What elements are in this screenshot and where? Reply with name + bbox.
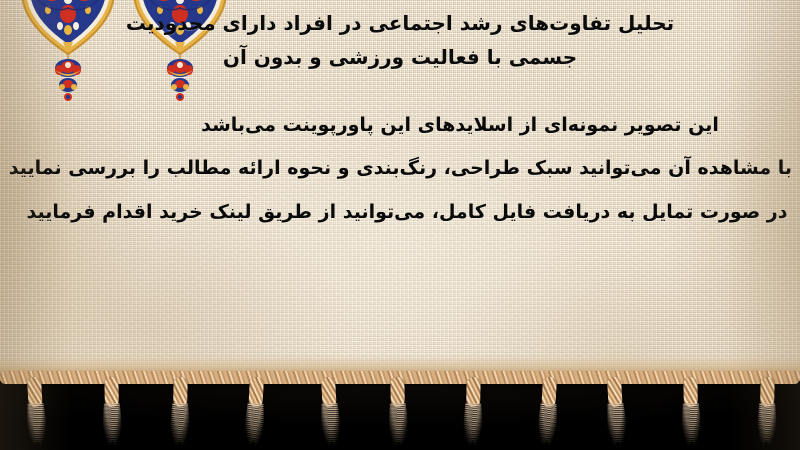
tassel-skirt	[680, 403, 703, 449]
tassel-skirt	[101, 403, 124, 449]
tassel-knot	[760, 377, 775, 407]
tassel-skirt	[535, 402, 560, 449]
fringe-tassel	[241, 376, 267, 449]
tassel-skirt	[168, 403, 191, 449]
tassel-knot	[683, 377, 698, 407]
carpet-fringe	[0, 355, 800, 450]
fringe-tassel	[386, 377, 409, 449]
fringe-tassel	[603, 376, 629, 449]
tassel-skirt	[25, 402, 50, 449]
fringe-tassel	[168, 377, 191, 449]
tassel-skirt	[755, 403, 778, 449]
tassel-skirt	[241, 402, 266, 449]
fringe-tassel	[461, 377, 484, 449]
tassel-skirt	[387, 403, 410, 449]
title-line-1: تحلیل تفاوت‌های رشد اجتماعی در افراد دار…	[10, 6, 790, 40]
title-line-2: جسمی با فعالیت ورزشی و بدون آن	[10, 40, 790, 74]
body-line-1: این تصویر نمونه‌ای از اسلایدهای این پاور…	[8, 104, 792, 147]
fringe-tassel	[755, 377, 778, 449]
fringe-tassel	[679, 377, 702, 449]
slide-canvas: تحلیل تفاوت‌های رشد اجتماعی در افراد دار…	[0, 0, 800, 450]
tassel-skirt	[605, 402, 630, 449]
fringe-tassel	[100, 377, 123, 449]
fringe-tassel	[317, 376, 343, 449]
tassel-skirt	[461, 403, 484, 449]
tassel-knot	[104, 377, 119, 407]
slide-title: تحلیل تفاوت‌های رشد اجتماعی در افراد دار…	[10, 6, 790, 75]
tassel-knot	[466, 377, 481, 407]
tassel-skirt	[319, 402, 344, 449]
body-line-3: در صورت تمایل به دریافت فایل کامل، می‌تو…	[8, 191, 792, 234]
slide-body: این تصویر نمونه‌ای از اسلایدهای این پاور…	[8, 104, 792, 234]
fringe-tassel	[23, 376, 49, 449]
tassel-knot	[173, 377, 188, 407]
tassel-knot	[390, 377, 405, 407]
body-line-2: با مشاهده آن می‌توانید سبک طراحی، رنگ‌بن…	[8, 147, 792, 190]
